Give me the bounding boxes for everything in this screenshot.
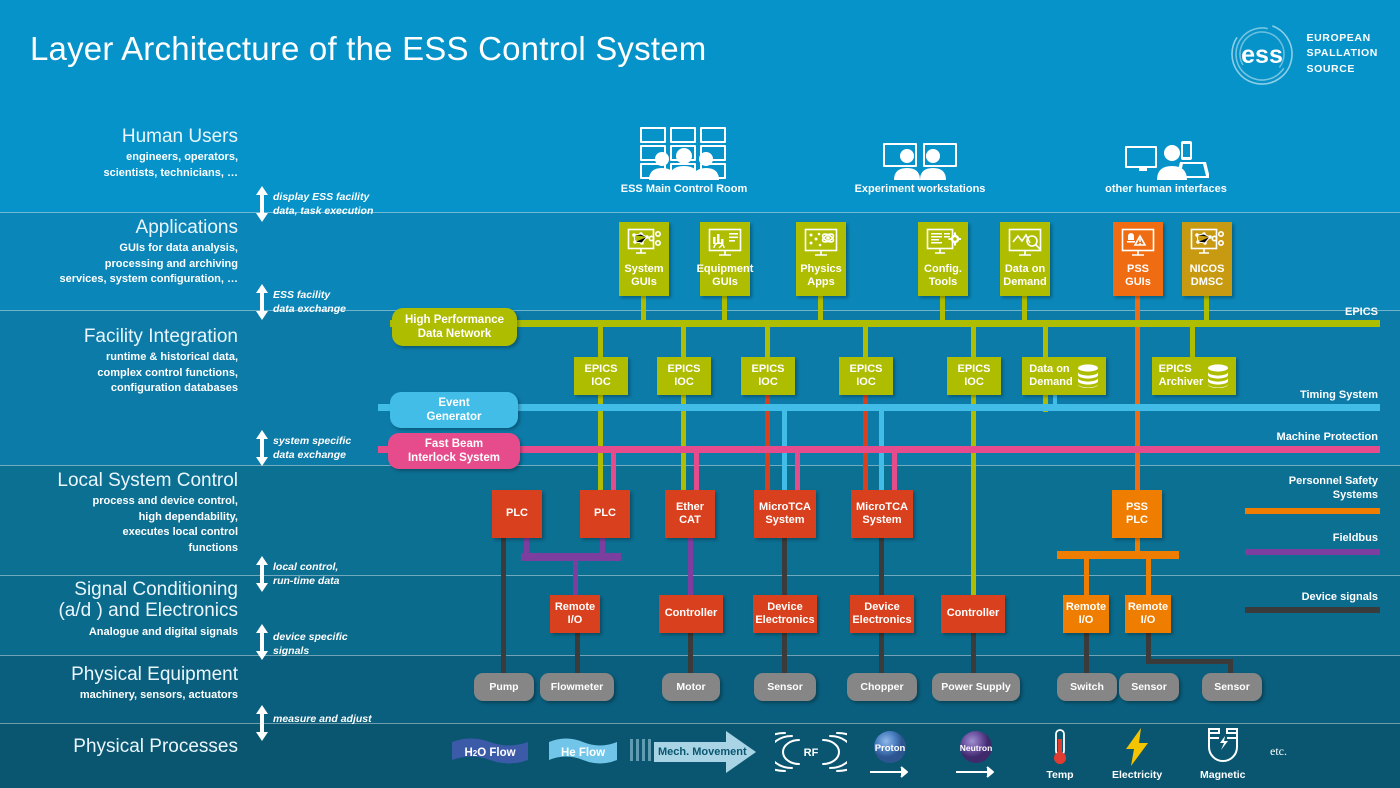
connector-line [1043,326,1048,357]
layer-title: Facility Integration [0,326,238,347]
layer-title: Applications [0,217,238,238]
sc-box-controller-2[interactable]: Controller [941,595,1005,633]
process-label: H2O Flow [452,738,528,768]
process-etc-label: etc. [1270,744,1287,759]
connector-line [971,392,976,614]
connector-line [1135,538,1140,552]
layer-label-applications: Applications GUIs for data analysis, pro… [0,217,238,288]
pill-label: Power Supply [941,681,1010,693]
lsc-box-pss-plc[interactable]: PSS PLC [1112,490,1162,538]
box-line-2: IOC [856,376,876,389]
box-line-1: PLC [594,507,616,520]
box-line-1: EPICS [667,363,700,376]
epics-ioc-box[interactable]: EPICS IOC [741,357,795,395]
box-line-1: PLC [506,507,528,520]
connector-line [971,633,976,674]
box-line-2: Generator [427,410,482,424]
application-box-physics-apps[interactable]: Physics Apps [796,222,846,296]
box-line-2: Interlock System [408,451,500,465]
gear-monitor-icon [918,228,968,258]
lsc-box-plc-1[interactable]: PLC [492,490,542,538]
diagram-canvas: Layer Architecture of the ESS Control Sy… [0,0,1400,788]
legend-bar-fieldbus [1245,549,1380,555]
svg-text:Neutron: Neutron [960,743,993,753]
box-line-1: Data on [1005,263,1045,276]
connector-line [782,538,787,595]
box-line-1: Remote [1066,601,1106,614]
human-user-experiment-workstations[interactable]: Experiment workstations [856,140,984,195]
box-line-2: Archiver [1159,376,1204,389]
connector-line [598,326,603,357]
interlayer-caption: local control, run-time data [273,560,340,588]
layer-subtitle: runtime & historical data, complex contr… [0,350,238,397]
interlayer-arrow-icon [255,284,269,320]
box-line-1: Ether [676,501,704,514]
epics-archiver-db-box[interactable]: EPICS Archiver [1152,357,1236,395]
ess-logo-wordmark: EUROPEAN SPALLATION SOURCE [1306,31,1378,77]
equipment-pill-flowmeter[interactable]: Flowmeter [540,673,614,701]
box-line-1: Controller [947,607,1000,620]
box-line-2: DMSC [1191,276,1223,289]
box-line-2: Electronics [755,614,814,627]
logo-line-1: EUROPEAN [1306,31,1378,46]
box-line-2: PLC [1126,514,1148,527]
box-line-1: Event [438,396,469,410]
layer-title: Physical Processes [0,736,238,757]
equipment-pill-sensor-3[interactable]: Sensor [1202,673,1262,701]
equipment-pill-switch[interactable]: Switch [1057,673,1117,701]
box-line-2: Demand [1029,376,1072,389]
bus-label-machine-protection: Machine Protection [1277,431,1378,443]
process-rf[interactable]: RF [775,732,847,772]
bus-label-epics: EPICS [1345,306,1378,318]
equipment-pill-power-supply[interactable]: Power Supply [932,673,1020,701]
workstations-icon [881,140,959,180]
layer-subtitle: GUIs for data analysis, processing and a… [0,241,238,288]
layer-label-human-users: Human Users engineers, operators, scient… [0,126,238,181]
connector-line [524,538,529,554]
pill-label: Flowmeter [551,681,604,693]
epics-ioc-box[interactable]: EPICS IOC [657,357,711,395]
process-he-flow[interactable]: He Flow [549,738,617,768]
process-temp[interactable]: Temp [1040,727,1080,781]
ess-logo-mark: ess [1228,20,1296,88]
pill-label: Chopper [860,681,903,693]
layer-subtitle: Analogue and digital signals [0,625,238,641]
svg-text:Proton: Proton [875,743,906,754]
equipment-pill-pump[interactable]: Pump [474,673,534,701]
equipment-pill-motor[interactable]: Motor [662,673,720,701]
human-user-other-interfaces[interactable]: other human interfaces [1102,140,1230,195]
pill-label: Switch [1070,681,1104,693]
connector-line [879,538,884,595]
band-separator [0,465,1400,466]
search-plot-monitor-icon [1000,228,1050,258]
legend-label-device-signals: Device signals [1302,590,1378,604]
control-room-icon [638,126,730,180]
lsc-box-microtca-2[interactable]: MicroTCA System [851,490,913,538]
box-line-1: NICOS [1190,263,1225,276]
application-box-pss-guis[interactable]: PSS GUIs [1113,222,1163,296]
box-line-2: CAT [679,514,701,527]
connector-line [681,326,686,357]
human-user-label: Experiment workstations [855,183,986,195]
application-box-nicos-dmsc[interactable]: NICOS DMSC [1182,222,1232,296]
database-icon [1077,364,1099,388]
connector-line [1084,633,1089,674]
interlayer-caption: device specific signals [273,630,348,658]
layer-title: Human Users [0,126,238,147]
layer-label-physical-equipment: Physical Equipment machinery, sensors, a… [0,664,238,704]
connector-line [575,633,580,674]
connector-line [863,326,868,357]
connector-line [940,296,945,320]
connector-line [1204,296,1209,320]
box-line-2: Electronics [852,614,911,627]
layer-subtitle: process and device control, high dependa… [0,494,238,556]
box-line-1: PSS [1126,501,1148,514]
ess-logo: ess EUROPEAN SPALLATION SOURCE [1228,20,1378,88]
fast-beam-interlock-system-box[interactable]: Fast Beam Interlock System [388,433,520,469]
box-line-2: I/O [1079,614,1094,627]
lightning-icon [1117,727,1157,767]
box-line-1: Equipment [697,263,754,276]
process-magnetic[interactable]: Magnetic [1200,727,1246,781]
process-neutron[interactable]: Neutron [948,730,1004,778]
box-line-1: MicroTCA [759,501,811,514]
pill-label: Sensor [767,681,803,693]
interlayer-caption: system specific data exchange [273,434,351,462]
box-line-1: EPICS [584,363,617,376]
process-mech-movement[interactable]: Mech. Movement [630,730,758,774]
connector-line [641,296,646,320]
connector-line [722,296,727,320]
box-line-1: System [624,263,663,276]
epics-ioc-box[interactable]: EPICS IOC [574,357,628,395]
thermometer-icon [1040,727,1080,767]
connector-line [1190,326,1195,357]
legend-label-fieldbus: Fieldbus [1333,531,1378,545]
sc-box-controller-1[interactable]: Controller [659,595,723,633]
box-line-2: IOC [591,376,611,389]
process-proton[interactable]: Proton [862,730,918,778]
connector-line [971,326,976,357]
lsc-box-plc-2[interactable]: PLC [580,490,630,538]
process-label: Mech. Movement [630,730,758,774]
sc-box-device-electronics-2[interactable]: Device Electronics [850,595,914,633]
sc-box-remote-io-3[interactable]: Remote I/O [1125,595,1171,633]
process-h2o-flow[interactable]: H2O Flow [452,738,528,768]
sc-box-remote-io-1[interactable]: Remote I/O [550,595,600,633]
database-icon [1207,364,1229,388]
machine-protection-bus-line [378,446,1380,453]
band-separator [0,310,1400,311]
process-electricity[interactable]: Electricity [1112,727,1162,781]
layer-subtitle: engineers, operators, scientists, techni… [0,150,238,181]
interlayer-arrow-icon [255,705,269,741]
process-label: Magnetic [1200,769,1246,781]
epics-ioc-box[interactable]: EPICS IOC [839,357,893,395]
human-user-control-room[interactable]: ESS Main Control Room [620,126,748,195]
band-separator [0,723,1400,724]
band-separator [0,575,1400,576]
connector-line [765,326,770,357]
particles-monitor-icon [796,228,846,258]
fieldbus-bar [521,553,621,561]
box-line-1: Physics [800,263,842,276]
epics-ioc-box[interactable]: EPICS IOC [947,357,1001,395]
box-line-1: EPICS [1159,363,1204,376]
connector-line [1084,558,1089,596]
page-title: Layer Architecture of the ESS Control Sy… [30,30,706,68]
svg-text:RF: RF [804,747,819,759]
interlayer-arrow-icon [255,430,269,466]
box-line-2: IOC [758,376,778,389]
process-label: He Flow [549,738,617,768]
pill-label: Sensor [1214,681,1250,693]
pill-label: Pump [489,681,518,693]
connector-line [782,633,787,674]
box-line-2: I/O [1141,614,1156,627]
interlayer-caption: ESS facility data exchange [273,288,346,316]
box-line-2: System [765,514,804,527]
band-separator [0,655,1400,656]
connector-line [688,633,693,674]
application-box-data-on-demand[interactable]: Data on Demand [1000,222,1050,296]
interlayer-caption: measure and adjust [273,712,372,726]
box-line-2: I/O [568,614,583,627]
event-generator-box[interactable]: Event Generator [390,392,518,428]
bus-label-timing-system: Timing System [1300,389,1378,401]
box-line-2: GUIs [631,276,657,289]
box-line-2: System [862,514,901,527]
chart-monitor-icon [700,228,750,258]
logo-line-3: SOURCE [1306,62,1378,77]
application-box-equipment-guis[interactable]: Equipment GUIs [700,222,750,296]
proton-icon: Proton [862,730,918,778]
connector-line [600,538,605,554]
rf-waves-icon: RF [775,732,847,772]
connector-line [1146,633,1151,660]
box-line-1: High Performance [405,313,504,327]
box-line-1: PSS [1127,263,1149,276]
box-line-1: EPICS [849,363,882,376]
box-line-1: Device [767,601,802,614]
network-monitor-icon [619,228,669,258]
box-line-1: Remote [555,601,595,614]
connector-line [501,538,506,674]
network-monitor-icon [1182,228,1232,258]
box-line-1: Data on [1029,363,1072,376]
pss-distribution-bar [1057,551,1179,559]
box-line-1: Controller [665,607,718,620]
equipment-pill-chopper[interactable]: Chopper [847,673,917,701]
interlayer-arrow-icon [255,556,269,592]
human-user-label: ESS Main Control Room [621,183,748,195]
layer-label-local-system-control: Local System Control process and device … [0,470,238,557]
box-line-1: EPICS [957,363,990,376]
process-label: Electricity [1112,769,1162,781]
legend-bar-personnel-safety [1245,508,1380,514]
legend-bar-device-signals [1245,607,1380,613]
box-line-1: Fast Beam [425,437,483,451]
box-line-1: MicroTCA [856,501,908,514]
svg-text:ess: ess [1242,41,1284,69]
box-line-1: Config. [924,263,962,276]
layer-subtitle: machinery, sensors, actuators [0,688,238,704]
box-line-2: GUIs [712,276,738,289]
pill-label: Sensor [1131,681,1167,693]
device-signal-branch [1146,659,1233,664]
layer-label-facility-integration: Facility Integration runtime & historica… [0,326,238,397]
legend-label-personnel-safety: Personnel Safety Systems [1289,474,1378,503]
layer-title: Local System Control [0,470,238,491]
lsc-box-microtca-1[interactable]: MicroTCA System [754,490,816,538]
sc-box-device-electronics-1[interactable]: Device Electronics [753,595,817,633]
process-label: Temp [1046,769,1073,781]
band-separator [0,212,1400,213]
interlayer-caption: display ESS facility data, task executio… [273,190,373,218]
page-header: Layer Architecture of the ESS Control Sy… [0,0,1400,110]
connector-line [688,538,693,595]
high-performance-data-network-box[interactable]: High Performance Data Network [392,308,517,346]
connector-line [1146,558,1151,596]
box-line-1: EPICS [751,363,784,376]
data-on-demand-db-box[interactable]: Data on Demand [1022,357,1106,395]
box-line-2: IOC [674,376,694,389]
equipment-pill-sensor-2[interactable]: Sensor [1119,673,1179,701]
box-line-1: Device [864,601,899,614]
neutron-icon: Neutron [948,730,1004,778]
mobile-devices-icon [1123,140,1209,180]
box-line-1: Remote [1128,601,1168,614]
box-text: Data on Demand [1029,363,1072,389]
timing-system-bus-line [378,404,1380,411]
logo-line-2: SPALLATION [1306,46,1378,61]
box-line-2: Tools [929,276,958,289]
interlayer-arrow-icon [255,186,269,222]
connector-line [818,296,823,320]
layer-label-physical-processes: Physical Processes [0,736,238,757]
layer-title: Physical Equipment [0,664,238,685]
lsc-box-ethercat[interactable]: Ether CAT [665,490,715,538]
application-box-config-tools[interactable]: Config. Tools [918,222,968,296]
connector-line [1022,296,1027,320]
sc-box-remote-io-2[interactable]: Remote I/O [1063,595,1109,633]
warning-monitor-icon [1113,228,1163,258]
box-line-2: Apps [807,276,835,289]
epics-bus-line [390,320,1380,327]
box-text: EPICS Archiver [1159,363,1204,389]
layer-label-signal-conditioning: Signal Conditioning (a/d ) and Electroni… [0,579,238,640]
layer-title: Signal Conditioning (a/d ) and Electroni… [0,579,238,622]
connector-line [879,633,884,674]
box-line-2: IOC [964,376,984,389]
human-user-label: other human interfaces [1105,183,1227,195]
magnet-icon [1201,727,1245,767]
box-line-2: Demand [1003,276,1046,289]
equipment-pill-sensor-1[interactable]: Sensor [754,673,816,701]
pill-label: Motor [676,681,705,693]
interlayer-arrow-icon [255,624,269,660]
box-line-2: GUIs [1125,276,1151,289]
box-line-2: Data Network [418,327,492,341]
connector-line [573,560,578,595]
application-box-system-guis[interactable]: System GUIs [619,222,669,296]
